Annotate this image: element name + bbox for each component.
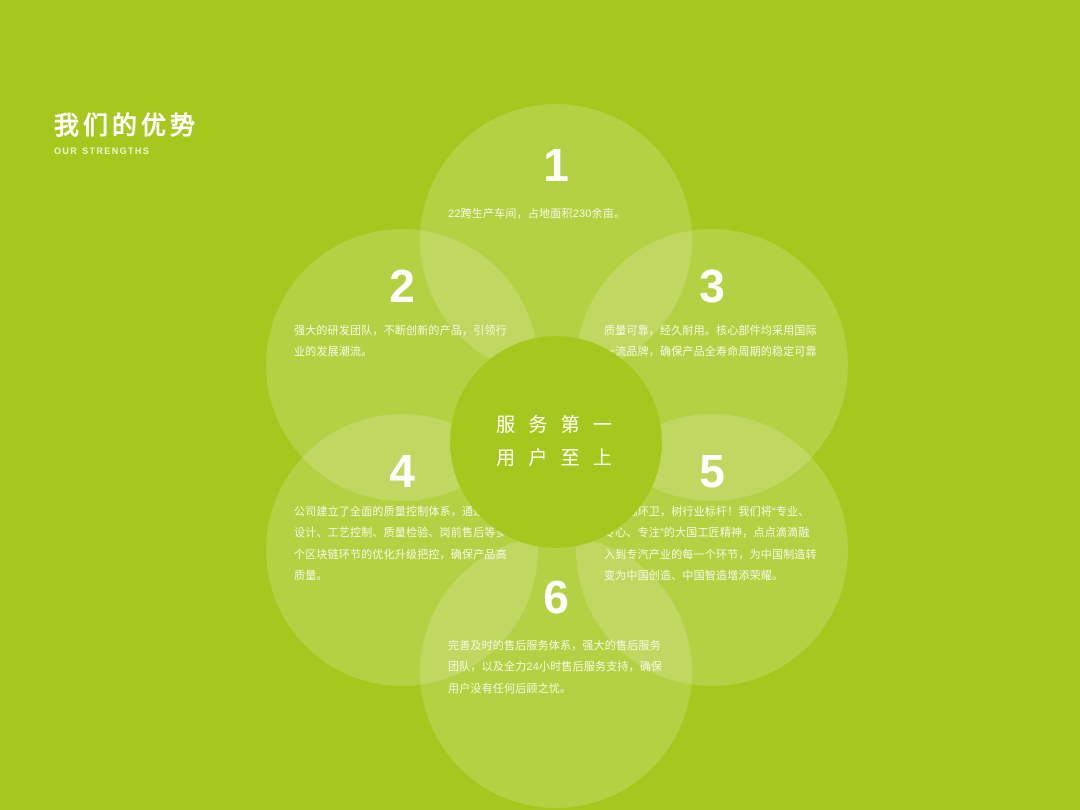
center-slogan-line-1: 服 务 第 一 [496,409,616,442]
slide-root: 我们的优势 OUR STRENGTHS 1 22跨生产车间，占地面积230余亩。… [0,0,1080,810]
strength-petal-6: 6 完善及时的售后服务体系，强大的售后服务团队，以及全力24小时售后服务支持，确… [420,536,692,808]
strength-number-2: 2 [266,263,538,309]
page-title: 我们的优势 [54,112,199,142]
page-heading: 我们的优势 OUR STRENGTHS [54,112,199,156]
strength-number-1: 1 [420,142,692,188]
center-slogan-line-2: 用 户 至 上 [496,442,616,475]
strengths-flower-diagram: 1 22跨生产车间，占地面积230余亩。 2 强大的研发团队，不断创新的产品，引… [246,104,866,754]
center-slogan-circle: 服 务 第 一 用 户 至 上 [450,336,662,548]
page-subtitle: OUR STRENGTHS [54,146,199,156]
strength-text-6: 完善及时的售后服务体系，强大的售后服务团队，以及全力24小时售后服务支持，确保用… [448,636,664,700]
strength-text-2: 强大的研发团队，不断创新的产品，引领行业的发展潮流。 [294,321,510,364]
strength-number-6: 6 [420,574,692,620]
strength-number-3: 3 [576,263,848,309]
strength-text-1: 22跨生产车间，占地面积230余亩。 [448,204,664,225]
